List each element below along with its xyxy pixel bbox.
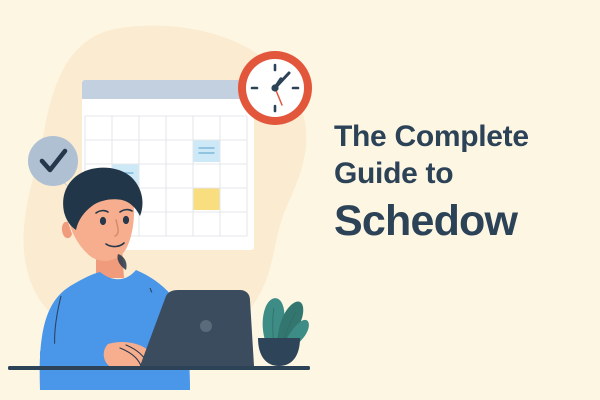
poster-canvas: The Complete Guide to Schedow <box>0 0 600 400</box>
calendar-event-blue-1 <box>193 140 220 162</box>
headline-line-3: Schedow <box>334 196 584 246</box>
laptop-logo-icon <box>200 320 212 332</box>
headline-line-1: The Complete <box>334 118 584 155</box>
speech-bubble-body <box>28 136 78 186</box>
person-eye-left <box>100 217 106 225</box>
headline-block: The Complete Guide to Schedow <box>334 118 584 246</box>
calendar-event-yellow <box>193 188 220 210</box>
headline-line-2: Guide to <box>334 155 584 192</box>
desk-surface <box>8 366 310 370</box>
calendar-header-bottom <box>82 93 254 99</box>
clock-center-pin <box>271 84 278 91</box>
wall-clock <box>238 51 312 125</box>
person-eye-right <box>123 216 129 224</box>
